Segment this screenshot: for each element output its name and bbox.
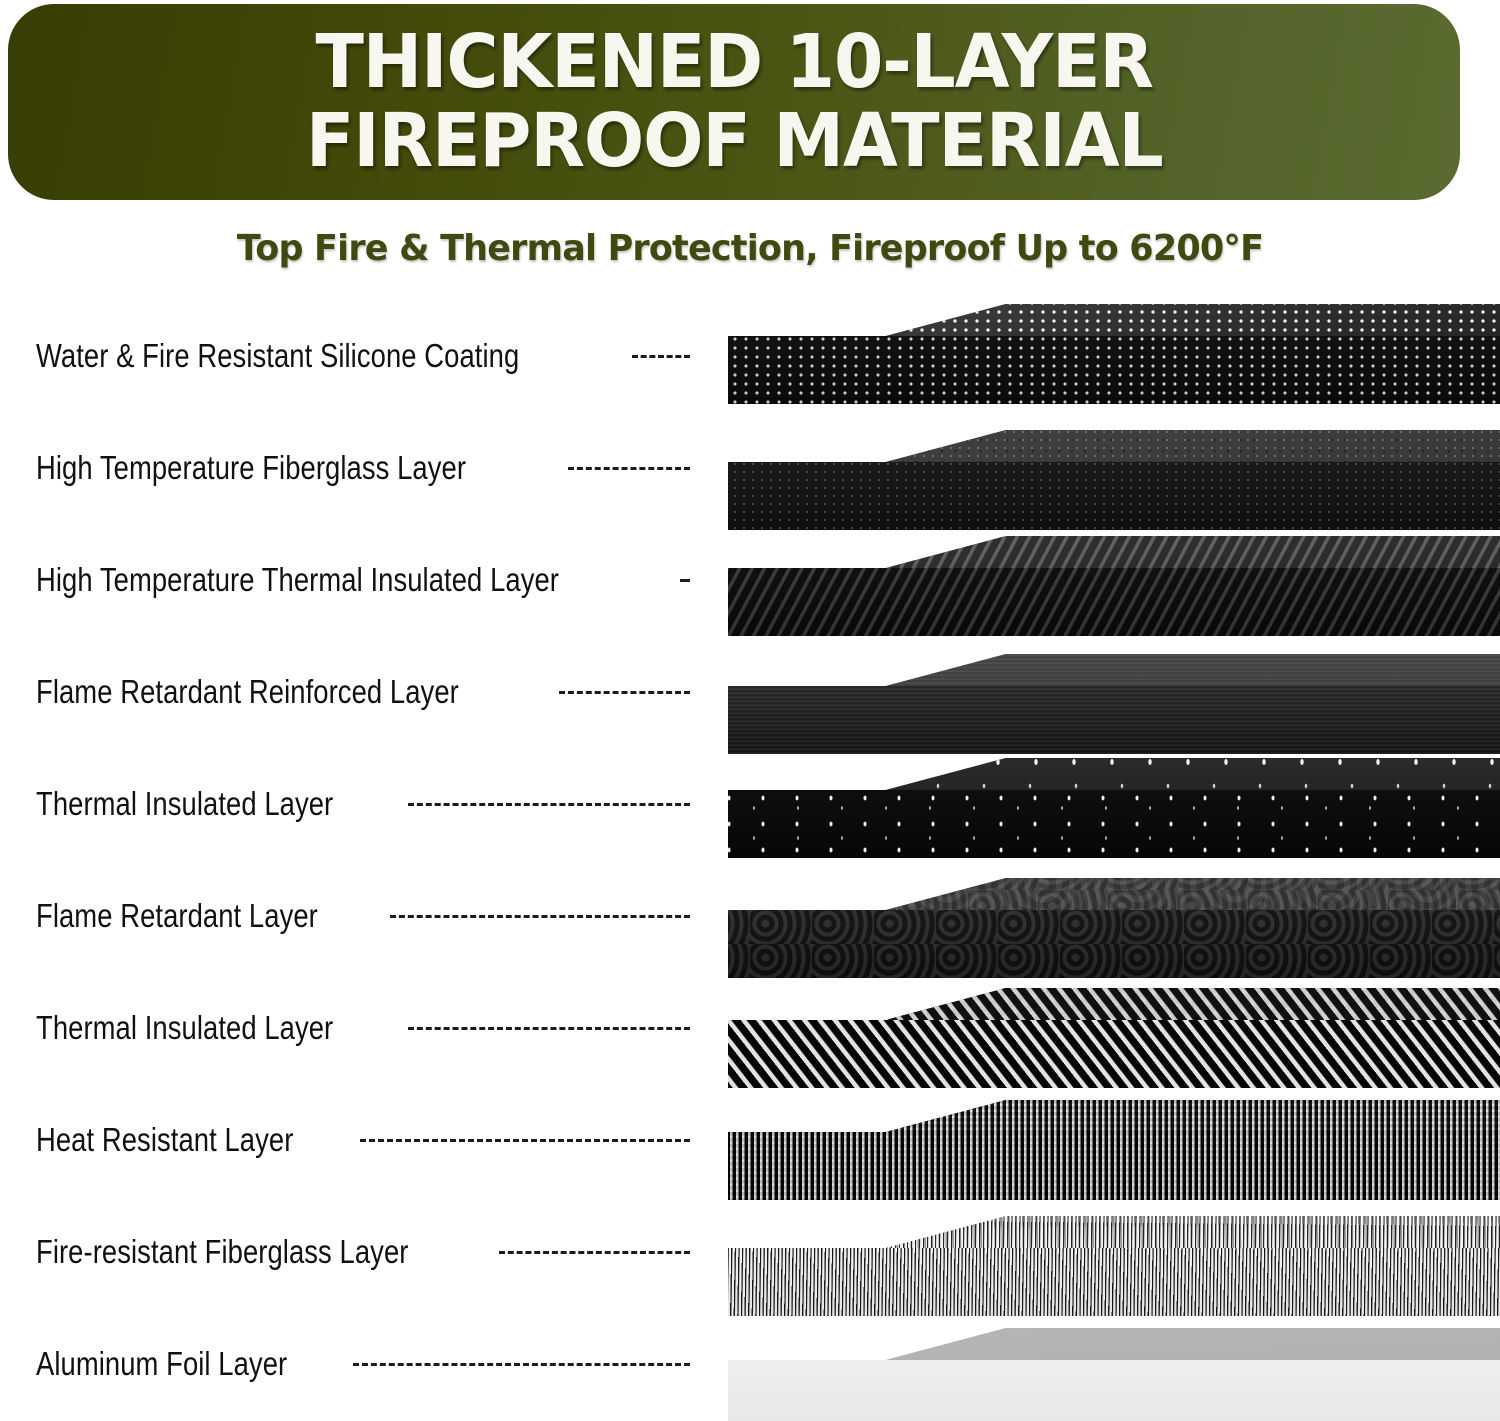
header-title-line-2: FIREPROOF MATERIAL <box>306 105 1163 178</box>
layer-slab <box>728 878 1500 978</box>
header-banner: THICKENED 10-LAYER FIREPROOF MATERIAL <box>8 4 1460 200</box>
leader-dash-line <box>568 467 690 470</box>
slab-front-face <box>728 608 1500 636</box>
leader-dash-line <box>499 1251 690 1254</box>
layer-row: Flame Retardant Reinforced Layer <box>0 636 1500 748</box>
layer-label: Water & Fire Resistant Silicone Coating <box>36 337 519 375</box>
layer-slab <box>728 988 1500 1088</box>
layer-slab <box>728 536 1500 636</box>
layer-slab <box>728 1100 1500 1200</box>
layer-slab <box>728 758 1500 858</box>
subtitle-text: Top Fire & Thermal Protection, Fireproof… <box>23 228 1478 269</box>
layer-label-group: Water & Fire Resistant Silicone Coating <box>36 300 696 412</box>
leader-dash-line <box>680 579 690 582</box>
leader-dash-line <box>632 355 690 358</box>
layer-diagram: Water & Fire Resistant Silicone Coating … <box>0 300 1500 1421</box>
layer-label: Fire-resistant Fiberglass Layer <box>36 1233 408 1271</box>
layer-label-group: Fire-resistant Fiberglass Layer <box>36 1196 696 1308</box>
layer-label-group: Thermal Insulated Layer <box>36 972 696 1084</box>
layer-label-group: Flame Retardant Reinforced Layer <box>36 636 696 748</box>
leader-dash-line <box>353 1363 690 1366</box>
layer-label-group: Flame Retardant Layer <box>36 860 696 972</box>
layer-row: Aluminum Foil Layer <box>0 1308 1500 1420</box>
layer-label: High Temperature Thermal Insulated Layer <box>36 561 559 599</box>
layer-label: Thermal Insulated Layer <box>36 1009 333 1047</box>
layer-label: High Temperature Fiberglass Layer <box>36 449 466 487</box>
layer-label-group: High Temperature Thermal Insulated Layer <box>36 524 696 636</box>
leader-dash-line <box>408 803 690 806</box>
layer-label: Heat Resistant Layer <box>36 1121 293 1159</box>
slab-front-face <box>728 1400 1500 1421</box>
leader-dash-line <box>559 691 690 694</box>
layer-row: Thermal Insulated Layer <box>0 748 1500 860</box>
header-title-line-1: THICKENED 10-LAYER <box>315 26 1152 99</box>
layer-row: Fire-resistant Fiberglass Layer <box>0 1196 1500 1308</box>
layer-row: Flame Retardant Layer <box>0 860 1500 972</box>
leader-dash-line <box>408 1027 690 1030</box>
layer-label: Flame Retardant Reinforced Layer <box>36 673 459 711</box>
layer-label-group: Thermal Insulated Layer <box>36 748 696 860</box>
layer-label: Flame Retardant Layer <box>36 897 318 935</box>
slab-front-face <box>728 376 1500 404</box>
layer-label-group: Heat Resistant Layer <box>36 1084 696 1196</box>
layer-label: Aluminum Foil Layer <box>36 1345 287 1383</box>
layer-row: High Temperature Fiberglass Layer <box>0 412 1500 524</box>
infographic-page: THICKENED 10-LAYER FIREPROOF MATERIAL To… <box>0 0 1500 1421</box>
layer-row: Water & Fire Resistant Silicone Coating <box>0 300 1500 412</box>
layer-label-group: Aluminum Foil Layer <box>36 1308 696 1420</box>
layer-slab <box>728 1328 1500 1421</box>
layer-slab <box>728 304 1500 404</box>
leader-dash-line <box>390 915 690 918</box>
layer-slab <box>728 1216 1500 1316</box>
layer-row: Heat Resistant Layer <box>0 1084 1500 1196</box>
layer-label-group: High Temperature Fiberglass Layer <box>36 412 696 524</box>
layer-slab <box>728 654 1500 754</box>
layer-slab <box>728 430 1500 530</box>
layer-label: Thermal Insulated Layer <box>36 785 333 823</box>
layer-row: High Temperature Thermal Insulated Layer <box>0 524 1500 636</box>
layer-row: Thermal Insulated Layer <box>0 972 1500 1084</box>
leader-dash-line <box>360 1139 690 1142</box>
slab-front-face <box>728 830 1500 858</box>
